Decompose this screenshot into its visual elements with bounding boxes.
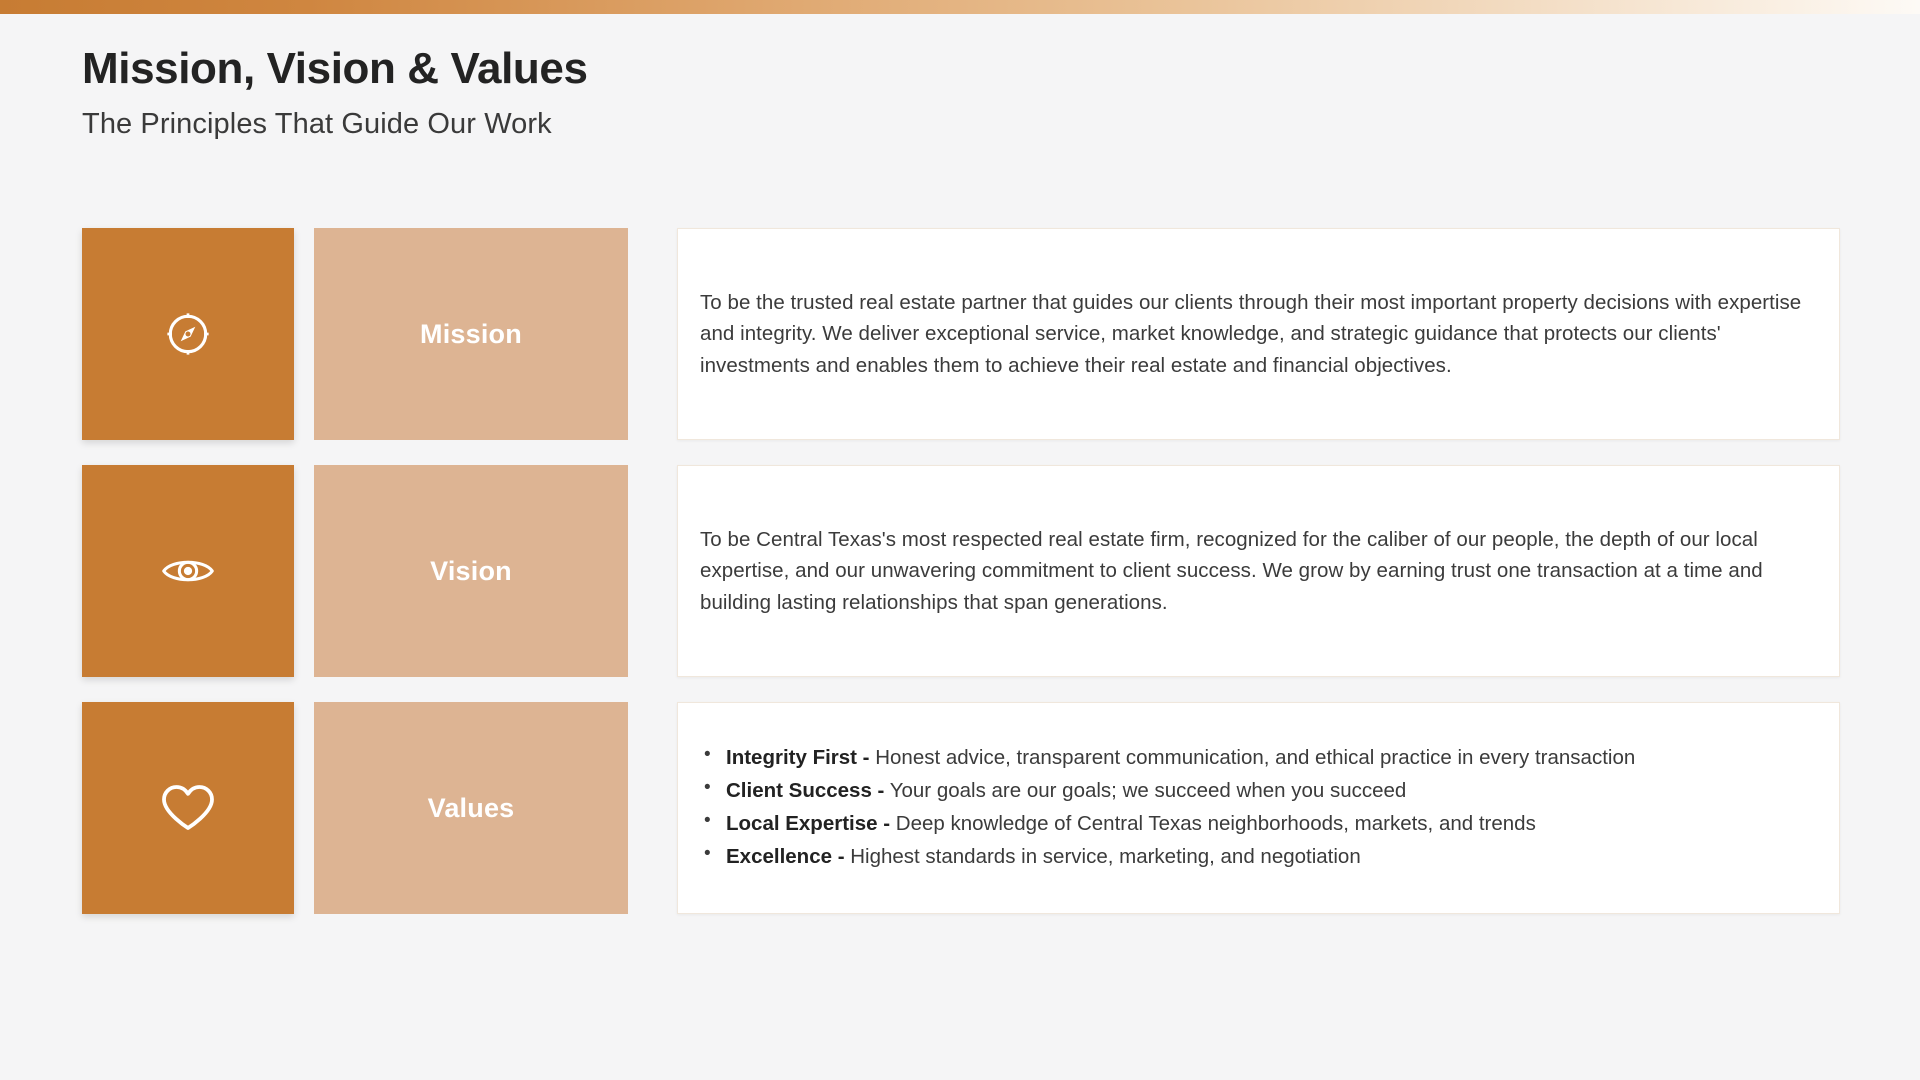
values-list-item: Local Expertise - Deep knowledge of Cent… — [700, 808, 1811, 839]
values-list-item: Integrity First - Honest advice, transpa… — [700, 742, 1811, 773]
values-item-description: Honest advice, transparent communication… — [870, 746, 1636, 769]
label-tile-vision[interactable]: Vision — [314, 465, 628, 677]
values-item-description: Deep knowledge of Central Texas neighbor… — [890, 812, 1536, 835]
values-list: Integrity First - Honest advice, transpa… — [700, 742, 1811, 875]
label-tile-values[interactable]: Values — [314, 702, 628, 914]
icon-tile-vision[interactable] — [82, 465, 294, 677]
row-vision: Vision To be Central Texas's most respec… — [0, 465, 1920, 677]
icon-tile-values[interactable] — [82, 702, 294, 914]
compass-icon — [163, 309, 213, 359]
vision-body-text: To be Central Texas's most respected rea… — [700, 524, 1811, 617]
label-tile-mission[interactable]: Mission — [314, 228, 628, 440]
top-accent-bar — [0, 0, 1920, 14]
page-header: Mission, Vision & Values The Principles … — [82, 44, 1482, 142]
page-title: Mission, Vision & Values — [82, 44, 1482, 93]
eye-icon — [161, 551, 215, 591]
content-rows: Mission To be the trusted real estate pa… — [0, 228, 1920, 939]
values-item-term: Excellence - — [726, 845, 845, 868]
row-mission: Mission To be the trusted real estate pa… — [0, 228, 1920, 440]
values-list-item: Excellence - Highest standards in servic… — [700, 841, 1811, 872]
label-tile-text: Values — [428, 793, 515, 824]
values-item-term: Integrity First - — [726, 746, 870, 769]
content-card-values: Integrity First - Honest advice, transpa… — [677, 702, 1840, 914]
row-values: Values Integrity First - Honest advice, … — [0, 702, 1920, 914]
values-list-item: Client Success - Your goals are our goal… — [700, 775, 1811, 806]
page-subtitle: The Principles That Guide Our Work — [82, 107, 1482, 142]
values-item-term: Client Success - — [726, 779, 884, 802]
content-card-mission: To be the trusted real estate partner th… — [677, 228, 1840, 440]
values-item-term: Local Expertise - — [726, 812, 890, 835]
content-card-vision: To be Central Texas's most respected rea… — [677, 465, 1840, 677]
label-tile-text: Mission — [420, 319, 522, 350]
icon-tile-mission[interactable] — [82, 228, 294, 440]
label-tile-text: Vision — [430, 556, 512, 587]
values-item-description: Your goals are our goals; we succeed whe… — [884, 779, 1406, 802]
values-item-description: Highest standards in service, marketing,… — [845, 845, 1361, 868]
mission-body-text: To be the trusted real estate partner th… — [700, 287, 1811, 380]
heart-icon — [160, 783, 216, 833]
